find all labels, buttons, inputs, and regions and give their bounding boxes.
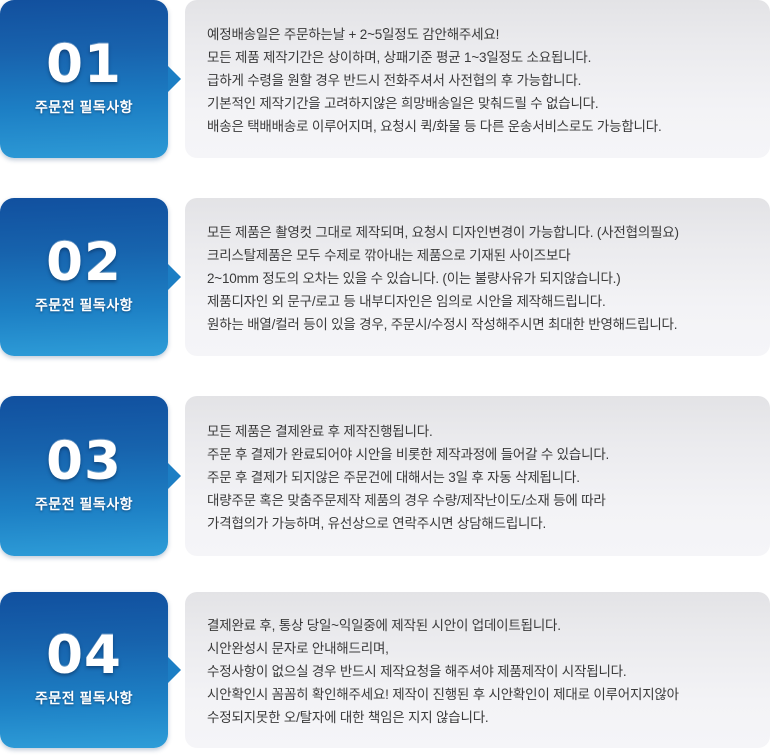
arrow-right-icon <box>168 264 181 290</box>
notice-line: 시안확인시 꼼꼼히 확인해주세요! 제작이 진행된 후 시안확인이 제대로 이루… <box>207 683 748 706</box>
arrow-right-icon <box>168 463 181 489</box>
notice-panel-03: 모든 제품은 결제완료 후 제작진행됩니다. 주문 후 결제가 완료되어야 시안… <box>185 396 770 556</box>
notice-line: 주문 후 결제가 완료되어야 시안을 비롯한 제작과정에 들어갈 수 있습니다. <box>207 443 748 466</box>
notice-line: 수정되지못한 오/탈자에 대한 책임은 지지 않습니다. <box>207 706 748 729</box>
notice-line: 제품디자인 외 문구/로고 등 내부디자인은 임의로 시안을 제작해드립니다. <box>207 290 748 313</box>
notice-line: 예정배송일은 주문하는날 + 2~5일정도 감안해주세요! <box>207 23 748 46</box>
notice-line: 크리스탈제품은 모두 수제로 깎아내는 제품으로 기재된 사이즈보다 <box>207 244 748 267</box>
badge-number: 04 <box>46 629 122 682</box>
notice-line: 배송은 택배배송로 이루어지며, 요청시 퀵/화물 등 다른 운송서비스로도 가… <box>207 115 748 138</box>
badge-number: 03 <box>46 435 122 488</box>
notice-card-01: 01 주문전 필독사항 예정배송일은 주문하는날 + 2~5일정도 감안해주세요… <box>0 0 770 158</box>
badge-label: 주문전 필독사항 <box>35 97 133 117</box>
notice-line: 급하게 수령을 원할 경우 반드시 전화주셔서 사전협의 후 가능합니다. <box>207 69 748 92</box>
notice-line: 가격협의가 가능하며, 유선상으로 연락주시면 상담해드립니다. <box>207 512 748 535</box>
notice-card-03: 03 주문전 필독사항 모든 제품은 결제완료 후 제작진행됩니다. 주문 후 … <box>0 396 770 556</box>
badge-number: 01 <box>46 38 122 91</box>
notice-line: 원하는 배열/컬러 등이 있을 경우, 주문시/수정시 작성해주시면 최대한 반… <box>207 313 748 336</box>
notice-line: 기본적인 제작기간을 고려하지않은 희망배송일은 맞춰드릴 수 없습니다. <box>207 92 748 115</box>
notice-line: 시안완성시 문자로 안내해드리며, <box>207 637 748 660</box>
notice-panel-04: 결제완료 후, 통상 당일~익일중에 제작된 시안이 업데이트됩니다. 시안완성… <box>185 592 770 748</box>
notice-panel-02: 모든 제품은 촬영컷 그대로 제작되며, 요청시 디자인변경이 가능합니다. (… <box>185 198 770 356</box>
notice-line: 2~10mm 정도의 오차는 있을 수 있습니다. (이는 불량사유가 되지않습… <box>207 267 748 290</box>
badge-label: 주문전 필독사항 <box>35 494 133 514</box>
notice-line: 대량주문 혹은 맞춤주문제작 제품의 경우 수량/제작난이도/소재 등에 따라 <box>207 489 748 512</box>
badge-number: 02 <box>46 236 122 289</box>
badge-label: 주문전 필독사항 <box>35 688 133 708</box>
notice-badge-02: 02 주문전 필독사항 <box>0 198 168 356</box>
notice-panel-01: 예정배송일은 주문하는날 + 2~5일정도 감안해주세요! 모든 제품 제작기간… <box>185 0 770 158</box>
notice-line: 모든 제품 제작기간은 상이하며, 상패기준 평균 1~3일정도 소요됩니다. <box>207 46 748 69</box>
notice-line: 모든 제품은 결제완료 후 제작진행됩니다. <box>207 420 748 443</box>
badge-label: 주문전 필독사항 <box>35 295 133 315</box>
notice-line: 결제완료 후, 통상 당일~익일중에 제작된 시안이 업데이트됩니다. <box>207 614 748 637</box>
notice-badge-01: 01 주문전 필독사항 <box>0 0 168 158</box>
notice-badge-04: 04 주문전 필독사항 <box>0 592 168 748</box>
notice-line: 주문 후 결제가 되지않은 주문건에 대해서는 3일 후 자동 삭제됩니다. <box>207 466 748 489</box>
notice-card-04: 04 주문전 필독사항 결제완료 후, 통상 당일~익일중에 제작된 시안이 업… <box>0 592 770 748</box>
notice-badge-03: 03 주문전 필독사항 <box>0 396 168 556</box>
arrow-right-icon <box>168 66 181 92</box>
arrow-right-icon <box>168 657 181 683</box>
notice-board: 01 주문전 필독사항 예정배송일은 주문하는날 + 2~5일정도 감안해주세요… <box>0 0 770 756</box>
notice-line: 모든 제품은 촬영컷 그대로 제작되며, 요청시 디자인변경이 가능합니다. (… <box>207 221 748 244</box>
notice-card-02: 02 주문전 필독사항 모든 제품은 촬영컷 그대로 제작되며, 요청시 디자인… <box>0 198 770 356</box>
notice-line: 수정사항이 없으실 경우 반드시 제작요청을 해주셔야 제품제작이 시작됩니다. <box>207 660 748 683</box>
